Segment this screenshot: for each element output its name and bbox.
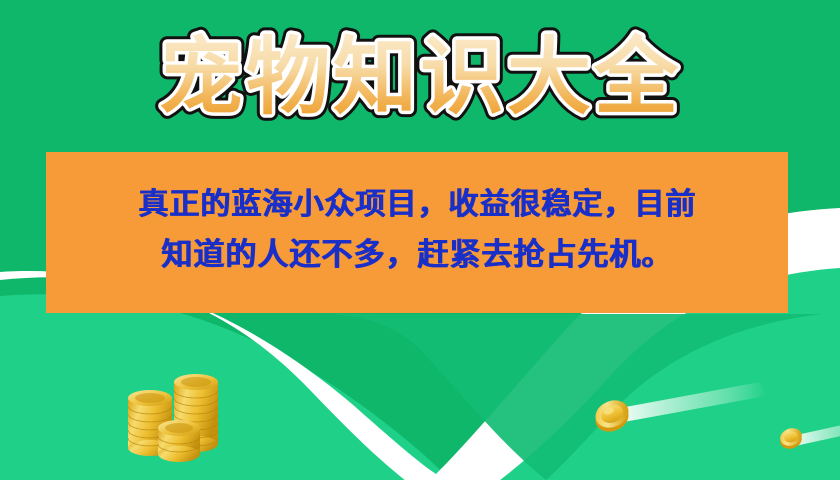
highlight-banner: 真正的蓝海小众项目，收益很稳定，目前 知道的人还不多，赶紧去抢占先机。 — [46, 152, 788, 313]
flying-coin-large-icon — [592, 396, 632, 434]
poster-title: 宠物知识大全 宠物知识大全 宠物知识大全 — [0, 14, 840, 132]
title-artwork: 宠物知识大全 宠物知识大全 宠物知识大全 — [120, 14, 720, 132]
title-fill: 宠物知识大全 — [159, 28, 681, 126]
banner-line-1: 真正的蓝海小众项目，收益很稳定，目前 — [138, 181, 696, 230]
coin-stack-icon — [120, 366, 232, 470]
coin-stack-front — [158, 420, 200, 462]
poster-canvas: 宠物知识大全 宠物知识大全 宠物知识大全 真正的蓝海小众项目，收益很稳定，目前 … — [0, 0, 840, 480]
flying-coin-small-icon — [778, 425, 804, 450]
banner-line-2: 知道的人还不多，赶紧去抢占先机。 — [161, 230, 673, 280]
